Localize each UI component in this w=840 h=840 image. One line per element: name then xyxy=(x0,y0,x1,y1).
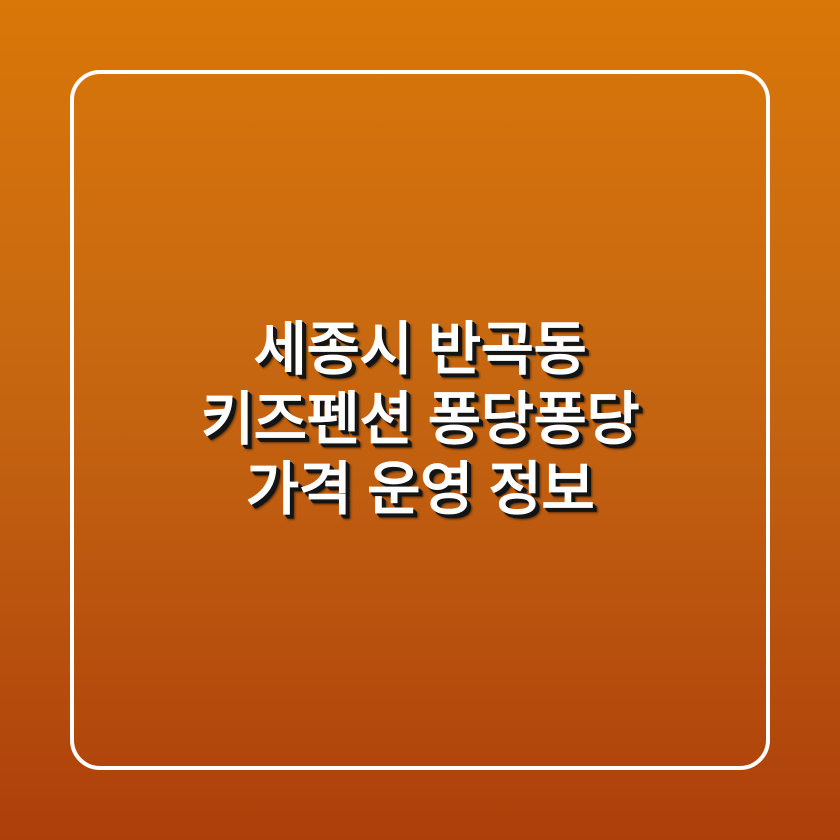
title-line-1: 세종시 반곡동 xyxy=(110,315,730,385)
title-block: 세종시 반곡동 키즈펜션 퐁당퐁당 가격 운영 정보 xyxy=(0,0,840,840)
thumbnail-card: 세종시 반곡동 키즈펜션 퐁당퐁당 가격 운영 정보 xyxy=(0,0,840,840)
title-line-3: 가격 운영 정보 xyxy=(110,455,730,525)
title-line-2: 키즈펜션 퐁당퐁당 xyxy=(110,385,730,455)
